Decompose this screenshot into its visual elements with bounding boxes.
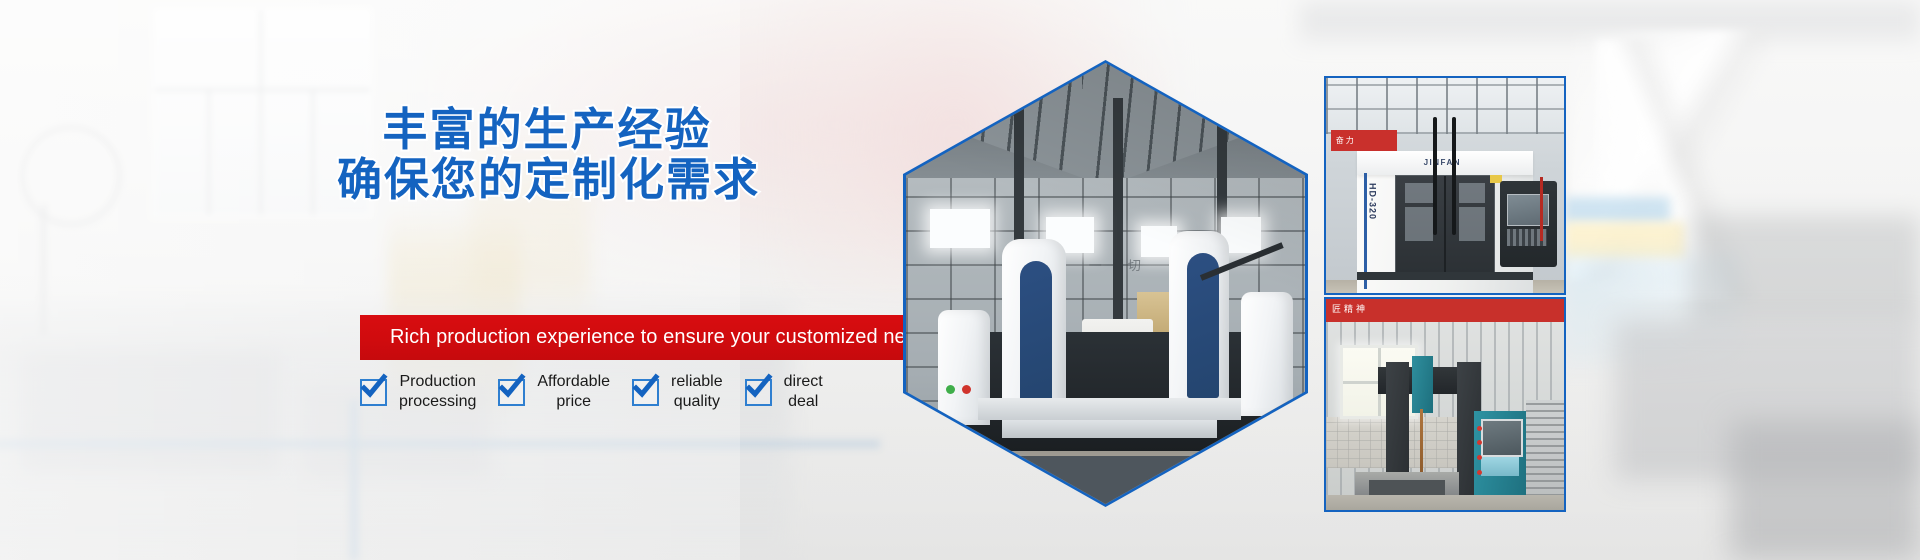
headline-line-1: 丰富的生产经验 [337, 105, 757, 155]
feature-item-reliable-quality: reliable quality [632, 372, 723, 412]
promo-banner: 丰富的生产经验 确保您的定制化需求 Rich production experi… [0, 0, 1920, 560]
banner-headline: 丰富的生产经验 确保您的定制化需求 [337, 105, 757, 206]
hexagon-photo-inner: 定 一 切 [906, 63, 1305, 504]
feature-label: Affordable price [537, 372, 610, 412]
background-veil-left [0, 0, 740, 560]
checkbox-checked-icon [745, 379, 772, 406]
checkbox-checked-icon [360, 379, 387, 406]
thumbnail-machine-1: 奋力 JINFAN HD-320 [1324, 76, 1566, 295]
checkbox-checked-icon [498, 379, 525, 406]
headline-line-2: 确保您的定制化需求 [337, 155, 757, 205]
thumbnail-1-machine-label: HD-320 [1368, 183, 1378, 220]
feature-item-production-processing: Production processing [360, 372, 476, 412]
subtitle-text: Rich production experience to ensure you… [360, 326, 938, 349]
checkbox-checked-icon [632, 379, 659, 406]
feature-label: direct deal [784, 372, 823, 412]
feature-item-affordable-price: Affordable price [498, 372, 610, 412]
subtitle-bar: Rich production experience to ensure you… [360, 315, 903, 360]
thumbnail-1-wall-banner: 奋力 [1331, 130, 1398, 152]
thumbnail-2-wall-banner: 匠精神 [1326, 299, 1564, 322]
feature-label: reliable quality [671, 372, 723, 412]
feature-item-direct-deal: direct deal [745, 372, 823, 412]
feature-list: Production processing Affordable price r… [360, 372, 845, 412]
hexagon-photo: 定 一 切 [903, 60, 1308, 507]
thumbnail-1-wall-banner-text: 奋力 [1331, 136, 1356, 145]
feature-label: Production processing [399, 372, 476, 412]
thumbnail-2-wall-banner-text: 匠精神 [1326, 305, 1368, 315]
thumbnail-machine-2: 匠精神 [1324, 297, 1566, 512]
